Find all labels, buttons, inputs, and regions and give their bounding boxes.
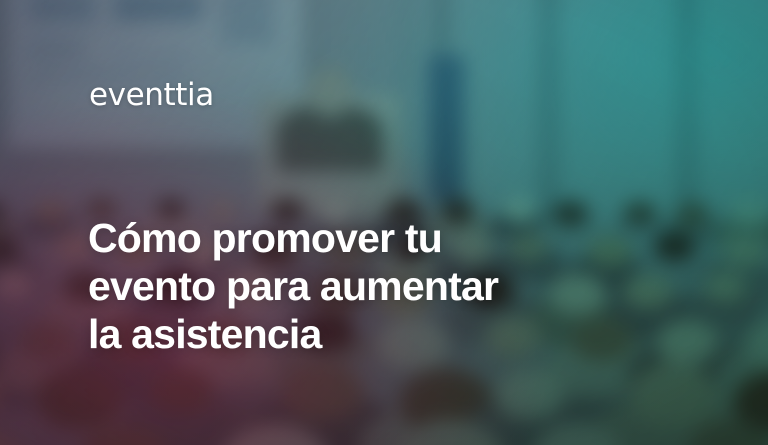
page-title: Cómo promover tu evento para aumentar la… — [88, 214, 628, 358]
headline-line-1: Cómo promover tu — [88, 214, 628, 262]
eventtia-logo[interactable]: eventtia — [89, 80, 214, 111]
headline-line-3: la asistencia — [88, 310, 628, 358]
headline-line-2: evento para aumentar — [88, 262, 628, 310]
event-promo-hero-banner: eventtia Cómo promover tu evento para au… — [0, 0, 768, 445]
banner-content: eventtia Cómo promover tu evento para au… — [0, 0, 768, 445]
